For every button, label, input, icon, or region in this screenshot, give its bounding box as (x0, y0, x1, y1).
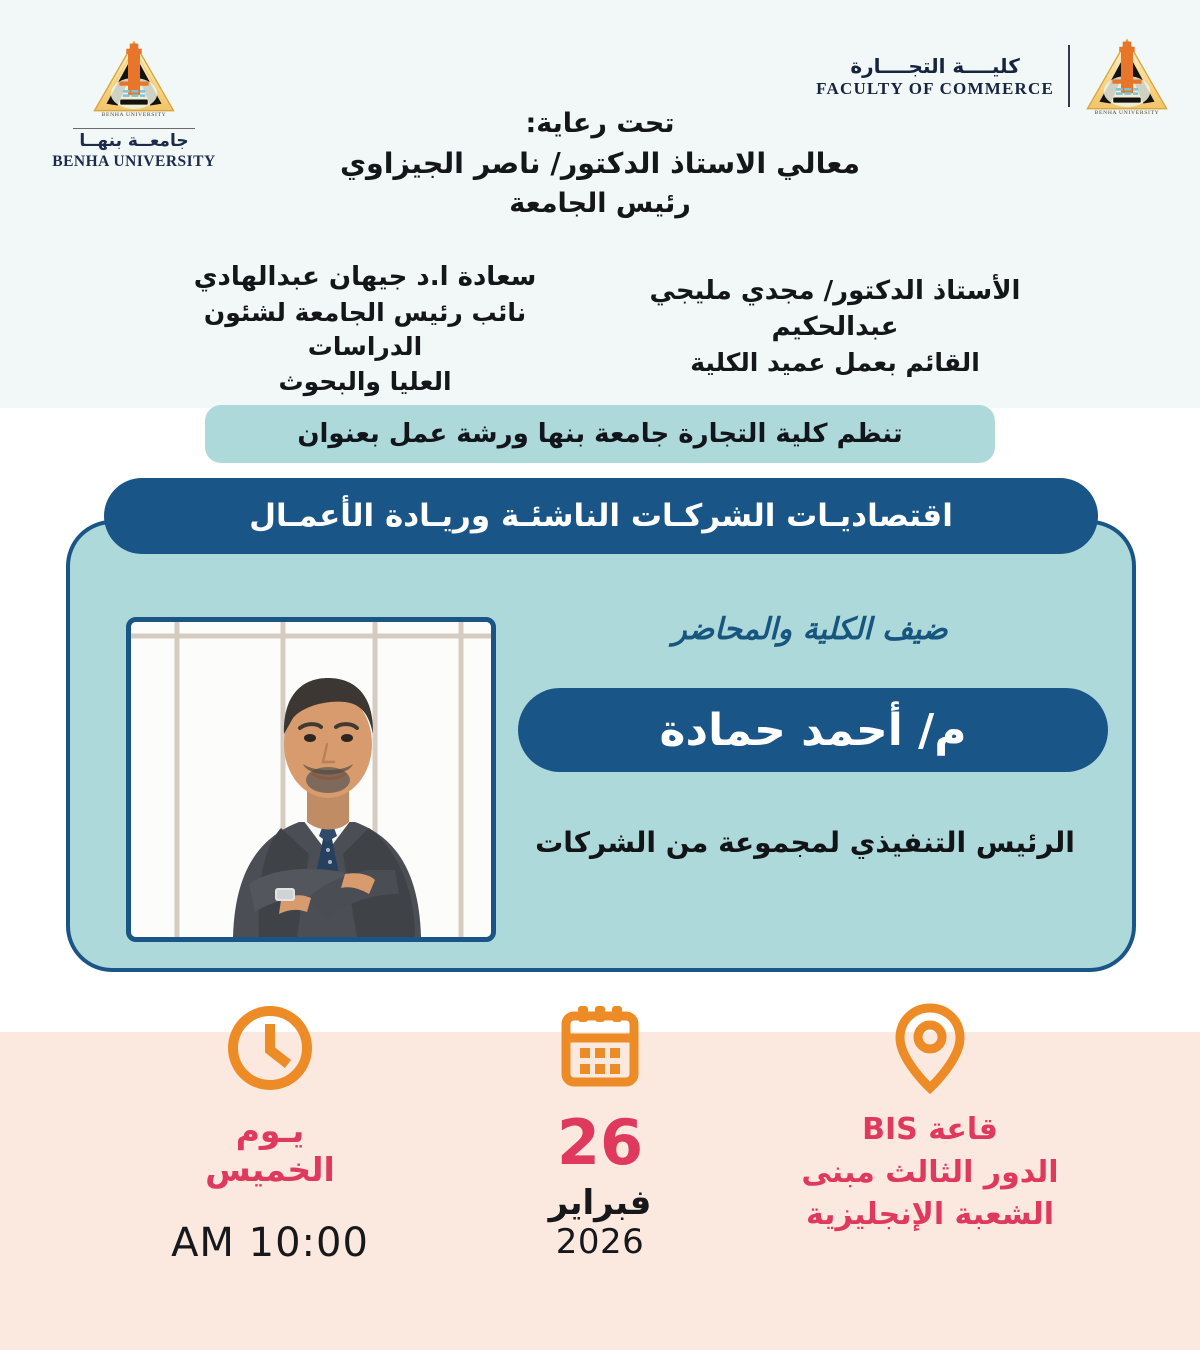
organizer-banner-text: تنظم كلية التجارة جامعة بنها ورشة عمل بع… (297, 419, 902, 449)
event-location-line3: الشعبة الإنجليزية (765, 1197, 1095, 1234)
vice-president-role-line1: نائب رئيس الجامعة لشئون الدراسات (144, 296, 586, 365)
patron-name: معالي الاستاذ الدكتور/ ناصر الجيزاوي (0, 143, 1200, 184)
speaker-name-text: م/ أحمد حمادة (660, 705, 967, 756)
event-info-row: يـوم الخميس 10:00 AM 26 ف (0, 1000, 1200, 1266)
vice-president-name: سعادة ا.د جيهان عبدالهادي (144, 260, 586, 296)
event-day-line1: يـوم (105, 1112, 435, 1151)
speaker-role: الرئيس التنفيذي لمجموعة من الشركات (500, 826, 1110, 859)
guest-label-text: ضيف الكلية والمحاضر (672, 612, 947, 647)
event-month: فبراير (435, 1184, 765, 1222)
organizer-banner: تنظم كلية التجارة جامعة بنها ورشة عمل بع… (205, 405, 995, 463)
event-time-text: 10:00 AM (105, 1220, 435, 1266)
acting-dean-role: القائم بعمل عميد الكلية (614, 346, 1056, 381)
event-year: 2026 (435, 1222, 765, 1262)
clock-icon (105, 1000, 435, 1096)
faculty-english-label: FACULTY OF COMMERCE (816, 79, 1054, 99)
vice-president-role-line2: العليا والبحوث (144, 365, 586, 400)
speaker-portrait-illustration (131, 622, 491, 937)
faculty-arabic-label: كليــــة التجــــارة (816, 54, 1054, 78)
event-poster: BENHA UNIVERSITY جامعــة بنهــا BENHA UN… (0, 0, 1200, 1350)
event-day-line2: الخميس (105, 1151, 435, 1190)
event-date-column: 26 فبراير 2026 (435, 1000, 765, 1266)
calendar-icon (435, 1000, 765, 1096)
speaker-name-pill: م/ أحمد حمادة (518, 688, 1108, 772)
patronage-prefix: تحت رعاية: (0, 104, 1200, 143)
patron-role: رئيس الجامعة (0, 184, 1200, 223)
event-time-column: يـوم الخميس 10:00 AM (105, 1000, 435, 1266)
workshop-title-pill: اقتصاديـات الشركـات الناشئـة وريـادة الأ… (104, 478, 1098, 554)
acting-dean-name-line2: عبدالحكيم (614, 310, 1056, 346)
event-location-line2: الدور الثالث مبنى (765, 1155, 1095, 1192)
speaker-role-text: الرئيس التنفيذي لمجموعة من الشركات (535, 826, 1075, 859)
guest-label: ضيف الكلية والمحاضر (520, 612, 1100, 647)
official-acting-dean: الأستاذ الدكتور/ مجدي مليجي عبدالحكيم ال… (600, 274, 1070, 380)
event-day-number: 26 (435, 1112, 765, 1174)
logo-vertical-divider (1068, 45, 1070, 107)
patronage-block: تحت رعاية: معالي الاستاذ الدكتور/ ناصر ا… (0, 104, 1200, 224)
officials-row: سعادة ا.د جيهان عبدالهادي نائب رئيس الجا… (0, 250, 1200, 399)
acting-dean-name-line1: الأستاذ الدكتور/ مجدي مليجي (614, 274, 1056, 310)
speaker-photo (126, 617, 496, 942)
workshop-title-text: اقتصاديـات الشركـات الناشئـة وريـادة الأ… (249, 498, 953, 534)
map-pin-icon (765, 1000, 1095, 1096)
official-vice-president: سعادة ا.د جيهان عبدالهادي نائب رئيس الجا… (130, 260, 600, 399)
event-location-line1: قاعة BIS (765, 1112, 1095, 1149)
event-location-column: قاعة BIS الدور الثالث مبنى الشعبة الإنجل… (765, 1000, 1095, 1266)
